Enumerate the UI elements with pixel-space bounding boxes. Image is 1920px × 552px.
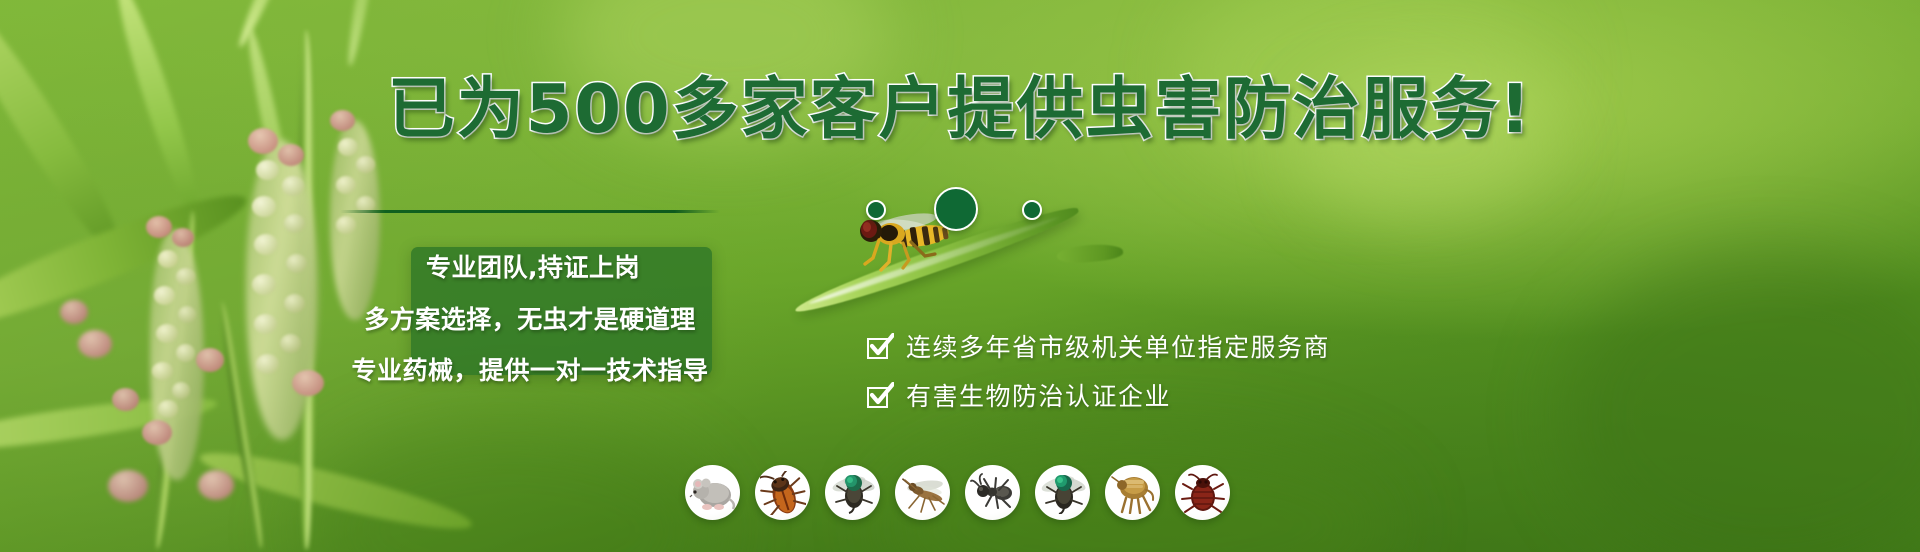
decor-dots bbox=[856, 186, 1106, 232]
list-item: 有害生物防治认证企业 bbox=[866, 383, 1330, 410]
flea-icon[interactable] bbox=[1105, 465, 1160, 520]
credentials-list: 连续多年省市级机关单位指定服务商 有害生物防治认证企业 bbox=[866, 334, 1330, 432]
credential-text: 连续多年省市级机关单位指定服务商 bbox=[906, 335, 1330, 360]
list-item: 连续多年省市级机关单位指定服务商 bbox=[866, 334, 1330, 361]
small-dot-icon bbox=[1022, 200, 1042, 220]
leaf-blade-tip bbox=[1056, 242, 1123, 266]
cockroach-icon[interactable] bbox=[755, 465, 810, 520]
credential-text: 有害生物防治认证企业 bbox=[906, 384, 1171, 409]
mouse-icon[interactable] bbox=[685, 465, 740, 520]
banner-headline: 已为500多家客户提供虫害防治服务! bbox=[0, 76, 1920, 143]
divider-rule bbox=[340, 210, 720, 213]
large-dot-icon bbox=[934, 187, 978, 231]
pest-icon-strip bbox=[685, 465, 1230, 520]
greenbottle-fly-icon[interactable] bbox=[1035, 465, 1090, 520]
claim-line-3: 专业药械，提供一对一技术指导 bbox=[340, 358, 720, 383]
promo-banner: 已为500多家客户提供虫害防治服务! 专业团队,持证上岗 多方案选择，无虫才是硬… bbox=[0, 0, 1920, 552]
mosquito-icon[interactable] bbox=[895, 465, 950, 520]
checkbox-checked-icon bbox=[866, 383, 893, 410]
bedbug-icon[interactable] bbox=[1175, 465, 1230, 520]
small-dot-icon bbox=[866, 200, 886, 220]
claim-line-2: 多方案选择，无虫才是硬道理 bbox=[340, 307, 720, 332]
claim-line-1: 专业团队,持证上岗 bbox=[346, 255, 720, 280]
banner-headline-text: 已为500多家客户提供虫害防治服务! bbox=[388, 70, 1532, 148]
ant-icon[interactable] bbox=[965, 465, 1020, 520]
claims-panel-text: 专业团队,持证上岗 多方案选择，无虫才是硬道理 专业药械，提供一对一技术指导 bbox=[340, 255, 720, 383]
housefly-icon[interactable] bbox=[825, 465, 880, 520]
checkbox-checked-icon bbox=[866, 334, 893, 361]
